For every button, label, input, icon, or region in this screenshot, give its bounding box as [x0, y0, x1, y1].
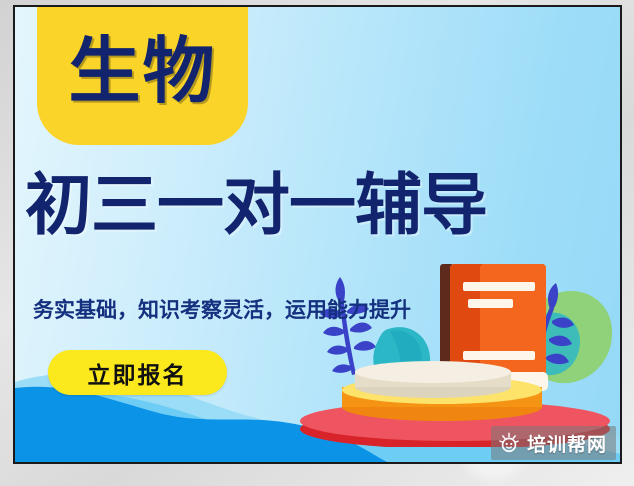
page-title: 初三一对一辅导	[25, 172, 617, 239]
book-pedestal-illustration	[280, 247, 622, 447]
course-banner: 生物	[13, 5, 622, 464]
sun-face-icon	[498, 432, 520, 454]
screenshot-stage: 生物	[0, 0, 634, 486]
banner-subtitle: 务实基础，知识考察灵活，运用能力提升	[33, 294, 411, 324]
subject-badge-label: 生物	[68, 35, 216, 113]
enroll-now-label: 立即报名	[88, 356, 188, 390]
pedestal-top	[355, 361, 511, 383]
fern-left-icon	[320, 277, 376, 375]
subject-badge: 生物	[37, 5, 248, 145]
site-watermark-label: 培训帮网	[527, 430, 607, 457]
enroll-now-button[interactable]: 立即报名	[48, 350, 227, 395]
site-watermark: 培训帮网	[491, 426, 616, 460]
